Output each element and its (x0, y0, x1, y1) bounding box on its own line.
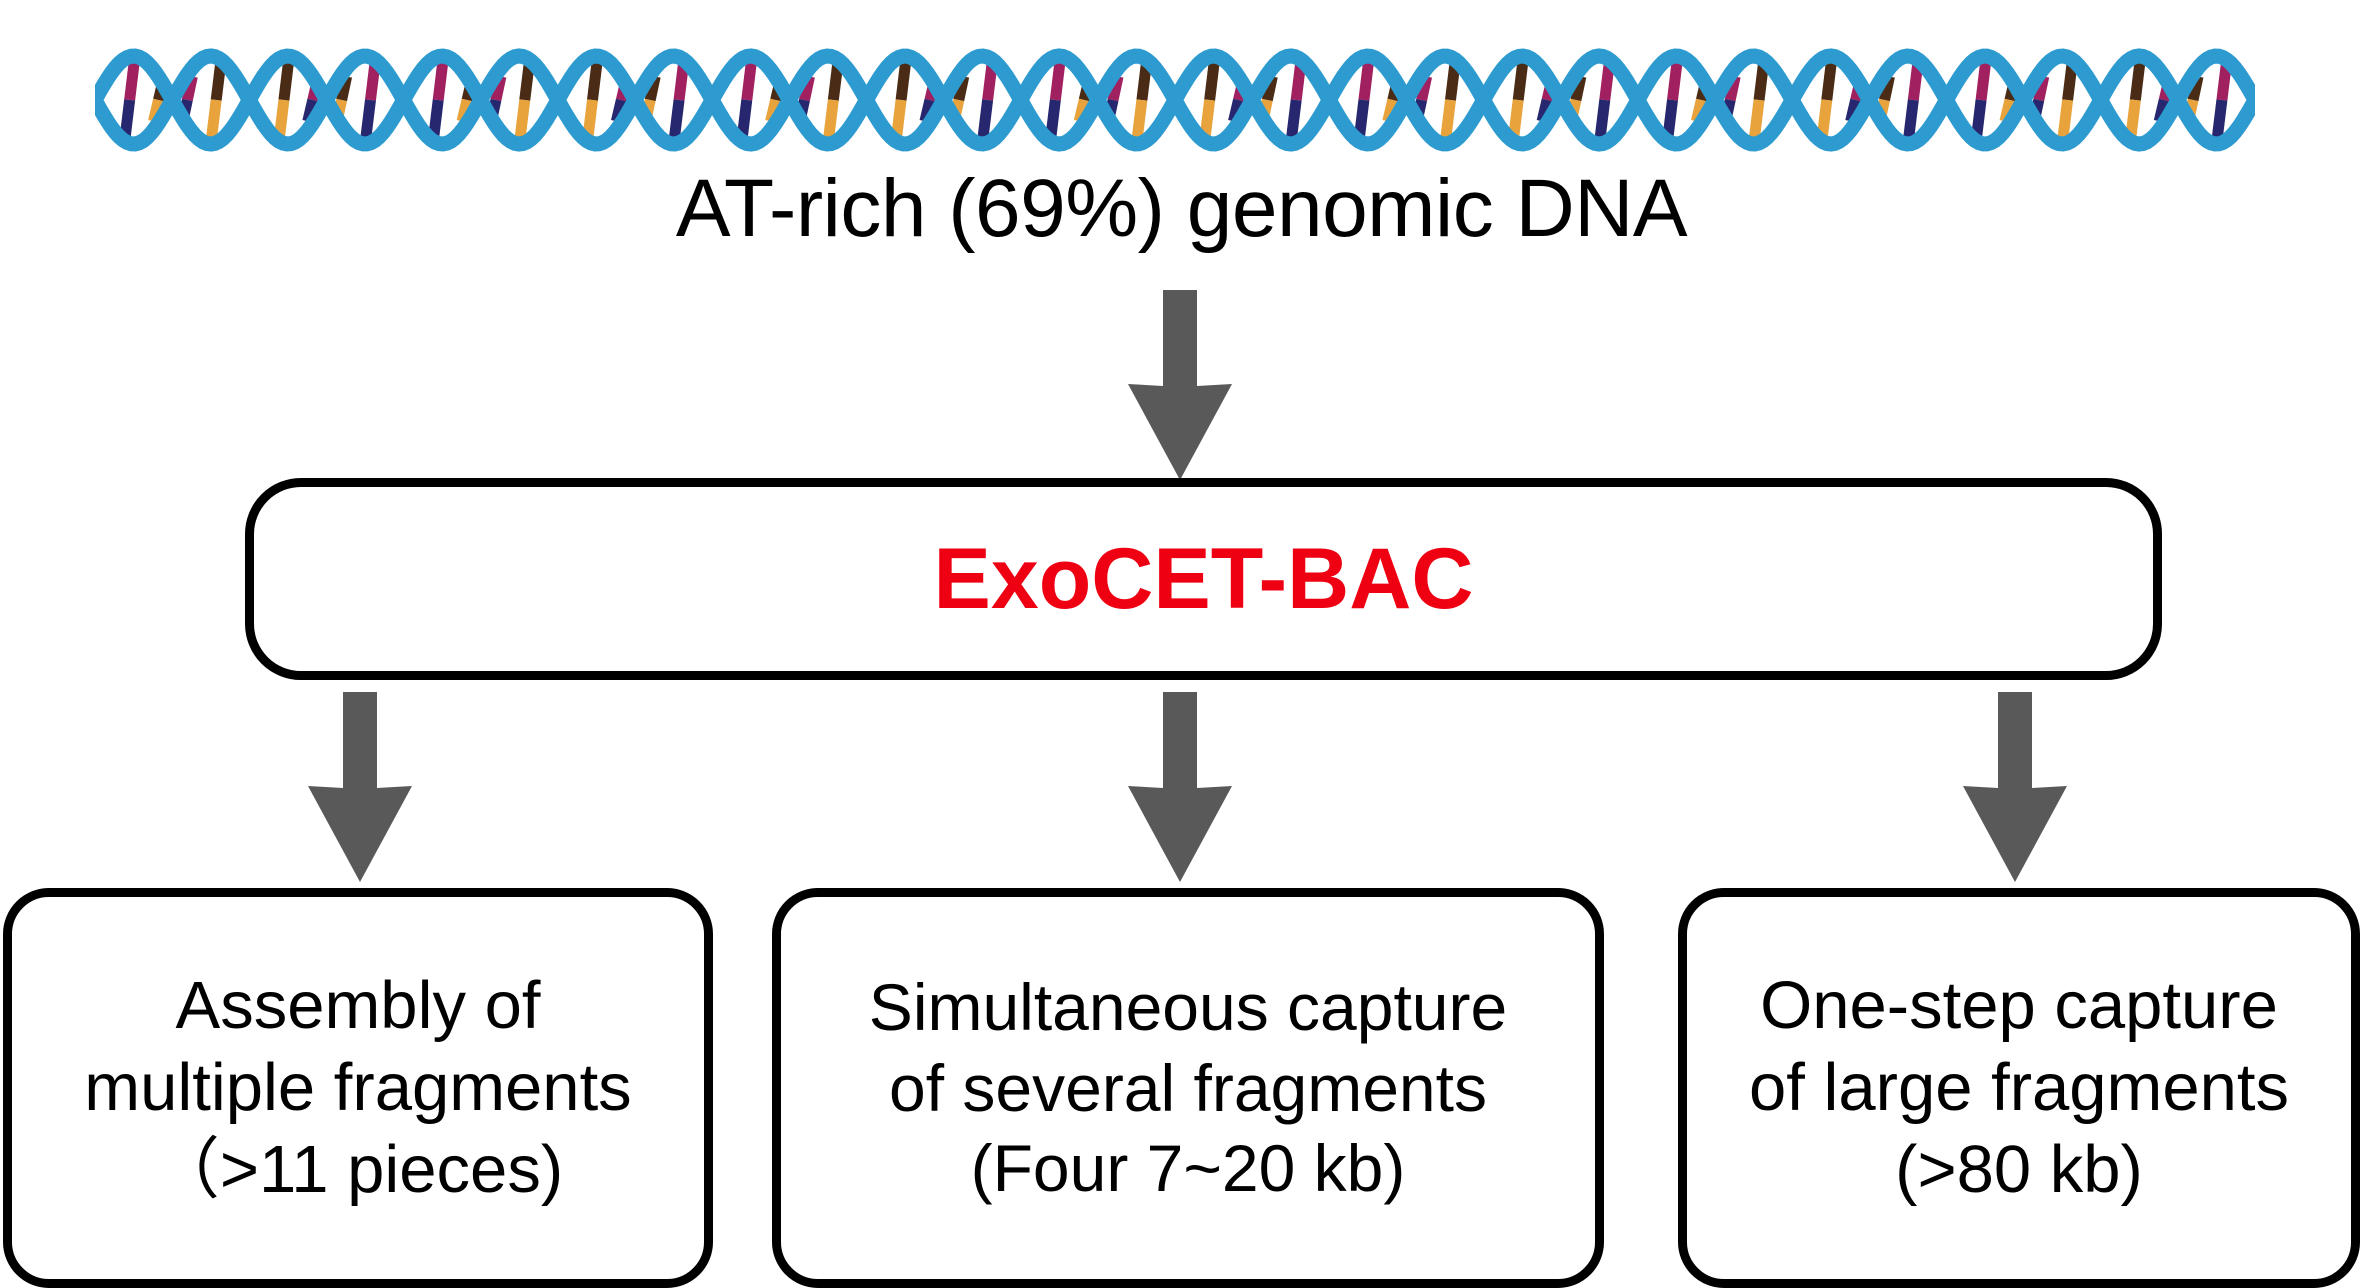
outcome-box-one-step-capture[interactable]: One-step capture of large fragments (>80… (1678, 888, 2360, 1288)
outcome-line: multiple fragments (84, 1047, 631, 1129)
dna-caption: AT-rich (69%) genomic DNA (0, 168, 2363, 250)
outcome-line: of several fragments (889, 1048, 1487, 1129)
outcome-line: One-step capture (1760, 965, 2278, 1047)
outcome-detail: (Four 7~20 kb) (971, 1128, 1406, 1209)
outcome-box-assembly-multiple-fragments[interactable]: Assembly of multiple fragments （>11 piec… (3, 888, 713, 1288)
figure-canvas: AT-rich (69%) genomic DNA ExoCET-BAC Ass… (0, 0, 2363, 1288)
outcome-line: Assembly of (176, 965, 541, 1047)
method-box-label: ExoCET-BAC (934, 536, 1474, 622)
arrow-method-to-outcome-3 (1955, 692, 2075, 882)
outcome-detail: （>11 pieces) (153, 1129, 563, 1211)
outcome-box-simultaneous-capture[interactable]: Simultaneous capture of several fragment… (772, 888, 1604, 1288)
arrow-method-to-outcome-1 (300, 692, 420, 882)
outcome-detail: (>80 kb) (1895, 1129, 2143, 1211)
arrow-dna-to-method (1120, 290, 1240, 480)
dna-double-helix-icon (95, 38, 2255, 162)
outcome-line: of large fragments (1749, 1047, 2289, 1129)
outcome-line: Simultaneous capture (869, 967, 1507, 1048)
method-box[interactable]: ExoCET-BAC (245, 478, 2162, 680)
arrow-method-to-outcome-2 (1120, 692, 1240, 882)
